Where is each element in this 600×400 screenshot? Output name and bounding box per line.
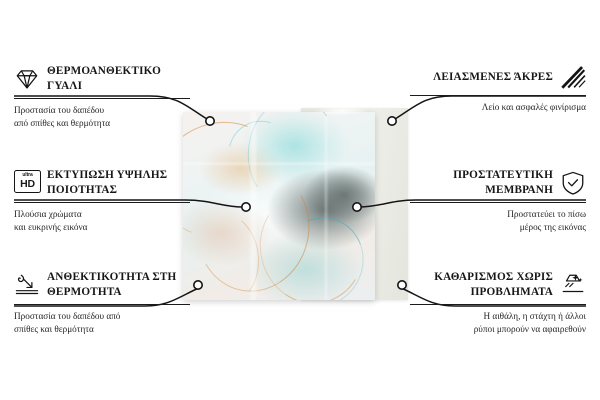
feature-header: ΘΕΡΜΟΑΝΘΕΚΤΙΚΟ ΓΥΑΛΙ — [14, 64, 190, 93]
feature-description: Προστασία του δαπέδου από σπίθες και θερ… — [14, 310, 190, 336]
spark-on-surface-icon — [14, 272, 40, 298]
feature-header: ΚΑΘΑΡΙΣΜΟΣ ΧΩΡΙΣ ΠΡΟΒΛΗΜΑΤΑ — [410, 270, 586, 299]
product-image — [183, 110, 408, 302]
feature-title: ΛΕΙΑΣΜΕΝΕΣ ΆΚΡΕΣ — [433, 70, 553, 85]
feature-divider — [14, 98, 190, 99]
feature-description: Λείο και ασφαλές φινίρισμα — [410, 101, 586, 114]
feature-divider — [410, 202, 586, 203]
diagonal-stripes-icon — [560, 64, 586, 90]
feature-description: Η αιθάλη, η στάχτη ή άλλοι ρύποι μπορούν… — [410, 310, 586, 336]
feature-header: ΠΡΟΣΤΑΤΕΥΤΙΚΗ ΜΕΜΒΡΑΝΗ — [410, 168, 586, 197]
glass-top-highlight — [314, 106, 368, 116]
feature-divider — [14, 202, 190, 203]
wipe-sparkle-icon — [560, 272, 586, 298]
ultra-hd-icon-main-label: HD — [20, 179, 35, 190]
feature-header: ΑΝΘΕΚΤΙΚΟΤΗΤΑ ΣΤΗ ΘΕΡΜΟΤΗΤΑ — [14, 270, 190, 299]
feature-header: ΛΕΙΑΣΜΕΝΕΣ ΆΚΡΕΣ — [410, 64, 586, 90]
feature-divider — [410, 95, 586, 96]
feature-description: Προστατεύει το πίσω μέρος της εικόνας — [410, 208, 586, 234]
product-front-panel — [183, 112, 375, 300]
ultra-hd-icon: ultra HD — [14, 170, 40, 196]
feature-title: ΠΡΟΣΤΑΤΕΥΤΙΚΗ ΜΕΜΒΡΑΝΗ — [410, 168, 553, 197]
diamond-icon — [14, 66, 40, 92]
feature-heat-resistant-glass: ΘΕΡΜΟΑΝΘΕΚΤΙΚΟ ΓΥΑΛΙ Προστασία του δαπέδ… — [14, 64, 190, 130]
feature-heat-durability: ΑΝΘΕΚΤΙΚΟΤΗΤΑ ΣΤΗ ΘΕΡΜΟΤΗΤΑ Προστασία το… — [14, 270, 190, 336]
glass-reflection-overlay — [183, 112, 375, 300]
feature-protective-membrane: ΠΡΟΣΤΑΤΕΥΤΙΚΗ ΜΕΜΒΡΑΝΗ Προστατεύει το πί… — [410, 168, 586, 234]
feature-divider — [410, 304, 586, 305]
feature-title: ΚΑΘΑΡΙΣΜΟΣ ΧΩΡΙΣ ΠΡΟΒΛΗΜΑΤΑ — [410, 270, 553, 299]
feature-title: ΕΚΤΥΠΩΣΗ ΥΨΗΛΗΣ ΠΟΙΟΤΗΤΑΣ — [47, 168, 190, 197]
shield-check-icon — [560, 170, 586, 196]
feature-high-quality-print: ultra HD ΕΚΤΥΠΩΣΗ ΥΨΗΛΗΣ ΠΟΙΟΤΗΤΑΣ Πλούσ… — [14, 168, 190, 234]
feature-divider — [14, 304, 190, 305]
product-feature-infographic: ΘΕΡΜΟΑΝΘΕΚΤΙΚΟ ΓΥΑΛΙ Προστασία του δαπέδ… — [0, 0, 600, 400]
feature-easy-cleaning: ΚΑΘΑΡΙΣΜΟΣ ΧΩΡΙΣ ΠΡΟΒΛΗΜΑΤΑ Η αιθάλη, η … — [410, 270, 586, 336]
feature-description: Προστασία του δαπέδου από σπίθες και θερ… — [14, 104, 190, 130]
feature-header: ultra HD ΕΚΤΥΠΩΣΗ ΥΨΗΛΗΣ ΠΟΙΟΤΗΤΑΣ — [14, 168, 190, 197]
feature-title: ΘΕΡΜΟΑΝΘΕΚΤΙΚΟ ΓΥΑΛΙ — [47, 64, 190, 93]
feature-description: Πλούσια χρώματα και ευκρινής εικόνα — [14, 208, 190, 234]
feature-title: ΑΝΘΕΚΤΙΚΟΤΗΤΑ ΣΤΗ ΘΕΡΜΟΤΗΤΑ — [47, 270, 190, 299]
feature-polished-edges: ΛΕΙΑΣΜΕΝΕΣ ΆΚΡΕΣ Λείο και ασφαλές φινίρι… — [410, 64, 586, 114]
